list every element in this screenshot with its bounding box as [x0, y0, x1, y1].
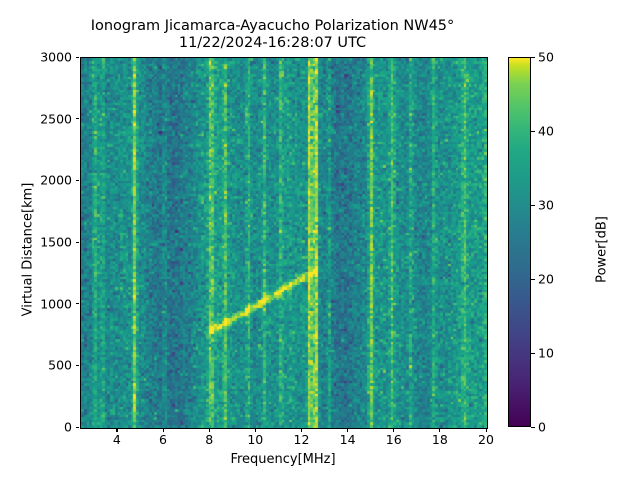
- x-tick-mark: [486, 428, 487, 432]
- x-tick-label: 6: [159, 432, 167, 447]
- y-tick-mark: [76, 242, 80, 243]
- colorbar-tick-label: 30: [538, 198, 554, 213]
- colorbar-tick-mark: [531, 205, 535, 206]
- colorbar-tick-mark: [531, 279, 535, 280]
- x-tick-mark: [439, 428, 440, 432]
- colorbar-tick-mark: [531, 353, 535, 354]
- colorbar-tick-mark: [531, 427, 535, 428]
- x-tick-mark: [116, 428, 117, 432]
- y-tick-mark: [76, 365, 80, 366]
- colorbar-gradient: [508, 57, 531, 427]
- x-tick-label: 4: [113, 432, 121, 447]
- x-tick-mark: [393, 428, 394, 432]
- x-tick-label: 16: [386, 432, 402, 447]
- y-tick-label: 3000: [20, 50, 72, 65]
- x-axis-label: Frequency[MHz]: [80, 452, 486, 467]
- colorbar-tick-mark: [531, 57, 535, 58]
- y-tick-mark: [76, 303, 80, 304]
- chart-title-line-2: 11/22/2024-16:28:07 UTC: [0, 35, 545, 52]
- ionogram-heatmap: [81, 58, 487, 428]
- x-tick-label: 12: [294, 432, 310, 447]
- y-tick-label: 2500: [20, 111, 72, 126]
- colorbar-tick-label: 10: [538, 346, 554, 361]
- x-tick-label: 10: [247, 432, 263, 447]
- chart-title: Ionogram Jicamarca-Ayacucho Polarization…: [0, 18, 545, 52]
- y-tick-mark: [76, 427, 80, 428]
- y-tick-mark: [76, 118, 80, 119]
- y-tick-label: 500: [20, 358, 72, 373]
- y-tick-label: 0: [20, 420, 72, 435]
- x-tick-label: 18: [432, 432, 448, 447]
- ionogram-plot-area: [80, 57, 488, 429]
- x-tick-mark: [255, 428, 256, 432]
- y-axis-label: Virtual Distance[km]: [21, 140, 36, 360]
- colorbar-label: Power[dB]: [595, 150, 610, 350]
- x-tick-mark: [209, 428, 210, 432]
- colorbar-tick-label: 0: [538, 420, 546, 435]
- colorbar-tick-mark: [531, 131, 535, 132]
- y-tick-mark: [76, 57, 80, 58]
- x-tick-mark: [163, 428, 164, 432]
- chart-title-line-1: Ionogram Jicamarca-Ayacucho Polarization…: [0, 18, 545, 35]
- x-tick-label: 20: [478, 432, 494, 447]
- colorbar-tick-label: 40: [538, 124, 554, 139]
- colorbar: 01020304050: [508, 57, 531, 427]
- colorbar-tick-label: 20: [538, 272, 554, 287]
- x-tick-label: 14: [340, 432, 356, 447]
- y-tick-mark: [76, 180, 80, 181]
- x-tick-label: 8: [205, 432, 213, 447]
- colorbar-tick-label: 50: [538, 50, 554, 65]
- x-tick-mark: [347, 428, 348, 432]
- x-tick-mark: [301, 428, 302, 432]
